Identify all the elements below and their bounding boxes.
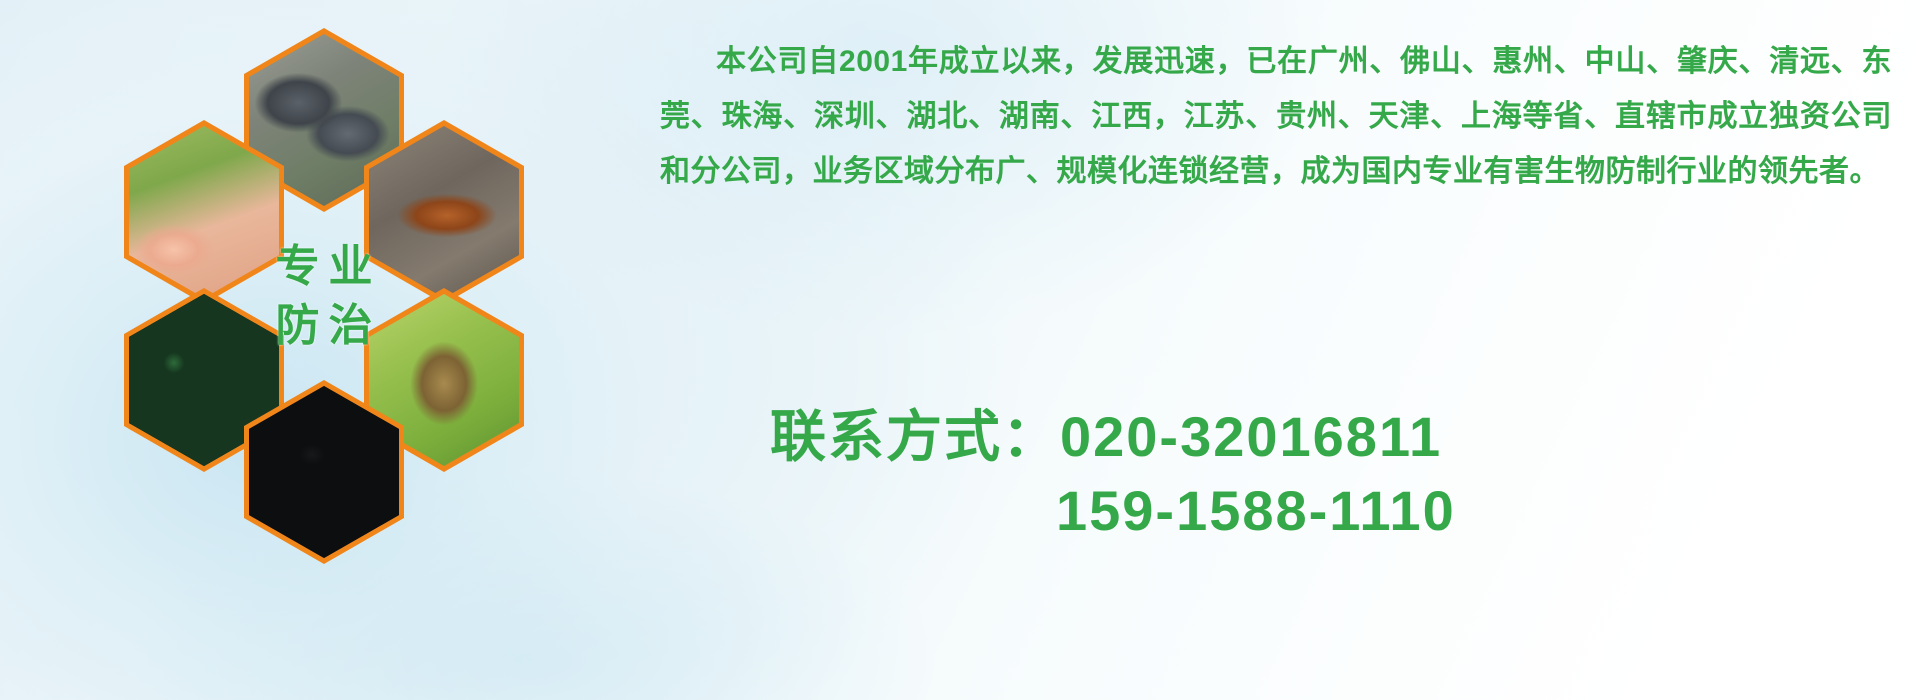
contact-line-secondary[interactable]: 159-1588-1110 xyxy=(1056,474,1770,548)
hexagon-photo-cluster: 专业 防治 xyxy=(96,10,596,570)
contact-line-primary[interactable]: 联系方式：020-32016811 xyxy=(770,400,1770,474)
promo-banner: 专业 防治 本公司自2001年成立以来，发展迅速，已在广州、佛山、惠州、中山、肇… xyxy=(0,0,1920,700)
hexagon-photo-ant-frame xyxy=(249,386,399,558)
company-description-paragraph: 本公司自2001年成立以来，发展迅速，已在广州、佛山、惠州、中山、肇庆、清远、东… xyxy=(660,34,1892,199)
center-badge: 专业 防治 xyxy=(244,204,404,388)
contact-block: 联系方式：020-32016811 159-1588-1110 xyxy=(770,400,1770,548)
badge-line-2: 防治 xyxy=(267,298,382,353)
company-description: 本公司自2001年成立以来，发展迅速，已在广州、佛山、惠州、中山、肇庆、清远、东… xyxy=(660,34,1892,199)
badge-line-1: 专业 xyxy=(267,239,382,294)
ant-image xyxy=(249,386,399,558)
